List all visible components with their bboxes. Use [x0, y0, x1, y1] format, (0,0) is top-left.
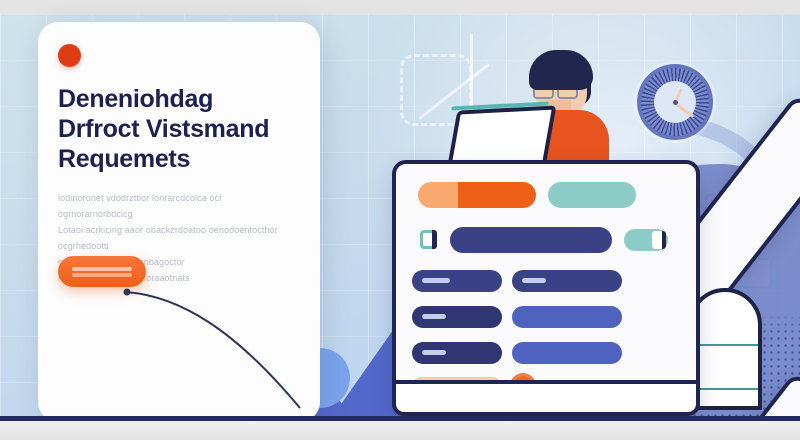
list-bar-label	[422, 278, 450, 283]
dashboard-card-footer	[392, 380, 700, 416]
body-line-1: lodinoronet vdodrzttior lonrarcdcolca oc…	[58, 190, 283, 222]
body-line-2: Lotaoi acrkicing aaor obackzrdoatno oeno…	[58, 222, 283, 254]
arch-divider	[692, 344, 758, 346]
list-bar-right[interactable]	[512, 342, 622, 364]
hair	[529, 50, 593, 90]
headline-line-1: Deneniohdag	[58, 84, 308, 114]
arch-divider	[692, 388, 758, 390]
page-title: Deneniohdag Drfroct Vistsmand Requemets	[58, 84, 308, 174]
logo-dot	[58, 44, 81, 67]
progress-pill-orange[interactable]	[418, 182, 536, 208]
clock-center-pin	[673, 100, 678, 105]
list-bar-left[interactable]	[412, 342, 502, 364]
toggle-knob	[652, 231, 666, 249]
progress-pill-fill	[458, 182, 536, 208]
list-bar-left[interactable]	[412, 306, 502, 328]
list-bar-left[interactable]	[412, 270, 502, 292]
cta-label-placeholder	[72, 267, 132, 271]
hero-card: Deneniohdag Drfroct Vistsmand Requemets …	[38, 22, 320, 422]
headline-line-2: Drfroct Vistsmand	[58, 114, 308, 144]
list-bar-right[interactable]	[512, 306, 622, 328]
list-bar-right[interactable]	[512, 270, 622, 292]
dashboard-card[interactable]	[392, 160, 700, 416]
pill-teal[interactable]	[548, 182, 636, 208]
search-bar[interactable]	[450, 227, 612, 253]
headline-line-3: Requemets	[58, 144, 308, 174]
list-bar-label	[422, 314, 446, 319]
list-bar-label	[522, 278, 546, 283]
primary-cta-button[interactable]	[58, 256, 146, 287]
illustration-canvas: Deneniohdag Drfroct Vistsmand Requemets …	[0, 0, 800, 440]
ghost-vertical-line	[470, 34, 473, 110]
hero-content: Deneniohdag Drfroct Vistsmand Requemets …	[38, 22, 320, 422]
clock-illustration	[637, 64, 713, 140]
list-bar-label	[422, 350, 446, 355]
checkbox-icon[interactable]	[420, 230, 437, 249]
floor-strip	[0, 421, 800, 440]
toggle-switch[interactable]	[624, 229, 668, 251]
